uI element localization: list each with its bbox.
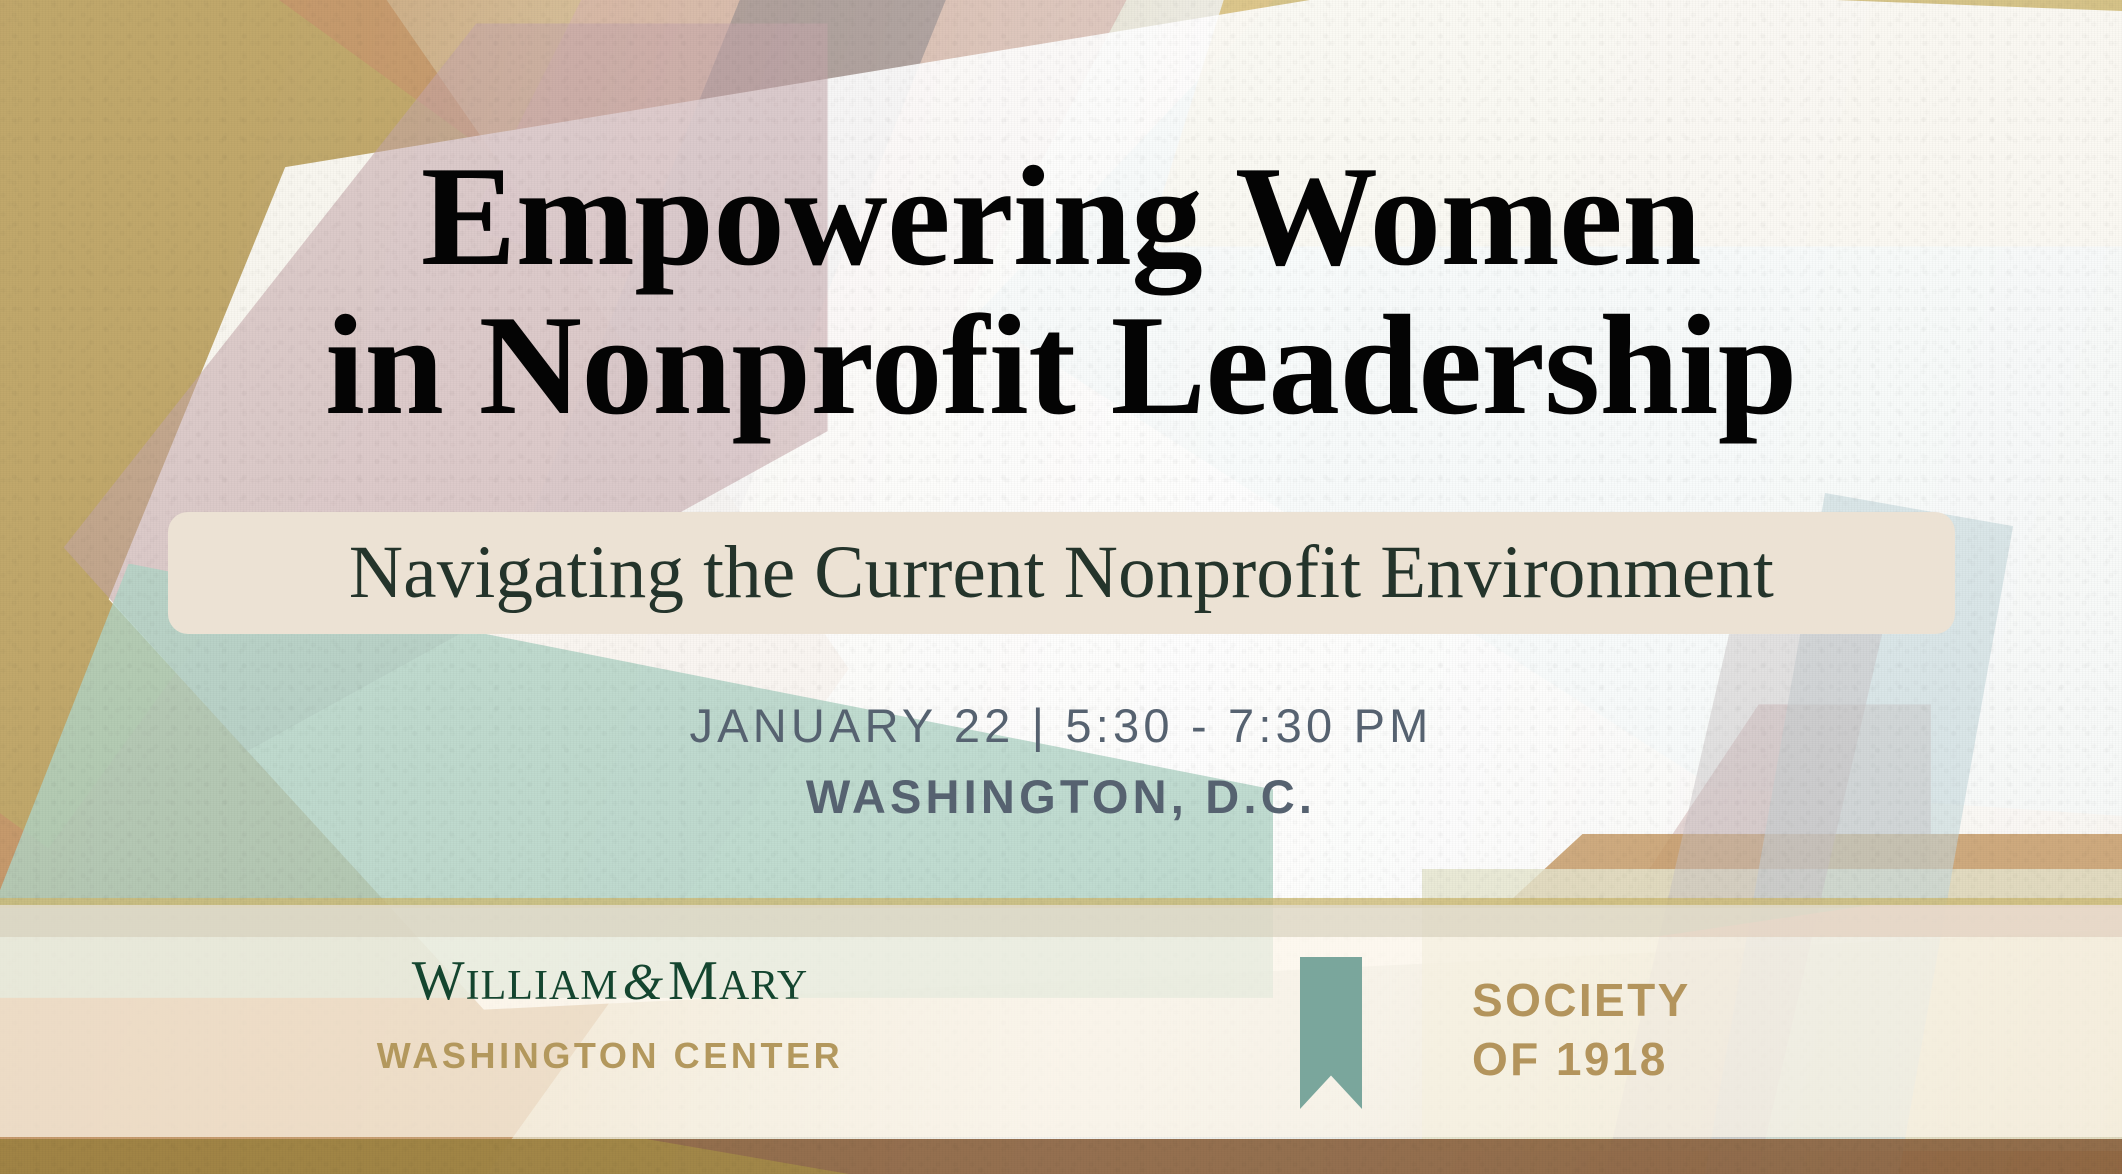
society-of-1918-logo: SOCIETY OF 1918 — [1300, 957, 1691, 1109]
william-and-mary-logo: WILLIAM&MARY WASHINGTON CENTER — [330, 953, 890, 1077]
society-wordmark: SOCIETY OF 1918 — [1472, 957, 1691, 1089]
event-headline: Empowering Women in Nonprofit Leadership — [0, 142, 2122, 439]
subtitle-bar: Navigating the Current Nonprofit Environ… — [168, 512, 1955, 634]
footer-bar: WILLIAM&MARY WASHINGTON CENTER SOCIETY O… — [0, 905, 2122, 1137]
wm-m: M — [668, 950, 719, 1012]
wm-wordmark: WILLIAM&MARY — [330, 953, 890, 1009]
society-line-1: SOCIETY — [1472, 971, 1691, 1030]
headline-line-1: Empowering Women — [0, 142, 2122, 291]
headline-line-2: in Nonprofit Leadership — [0, 291, 2122, 440]
wm-ampersand: & — [619, 954, 668, 1011]
society-line-2: OF 1918 — [1472, 1030, 1691, 1089]
ribbon-bookmark-icon — [1300, 957, 1362, 1109]
wm-unit-name: WASHINGTON CENTER — [330, 1035, 890, 1077]
banner-content: Empowering Women in Nonprofit Leadership… — [0, 0, 2122, 1174]
subtitle-text: Navigating the Current Nonprofit Environ… — [349, 530, 1774, 616]
event-location: WASHINGTON, D.C. — [0, 769, 2122, 824]
wm-w: W — [412, 950, 466, 1012]
event-date-time: JANUARY 22 | 5:30 - 7:30 PM — [0, 698, 2122, 753]
wm-ary: ARY — [719, 963, 808, 1009]
event-details: JANUARY 22 | 5:30 - 7:30 PM WASHINGTON, … — [0, 698, 2122, 824]
footer-content: WILLIAM&MARY WASHINGTON CENTER SOCIETY O… — [0, 905, 2122, 1137]
wm-illiam: ILLIAM — [466, 963, 619, 1009]
event-banner: Empowering Women in Nonprofit Leadership… — [0, 0, 2122, 1174]
